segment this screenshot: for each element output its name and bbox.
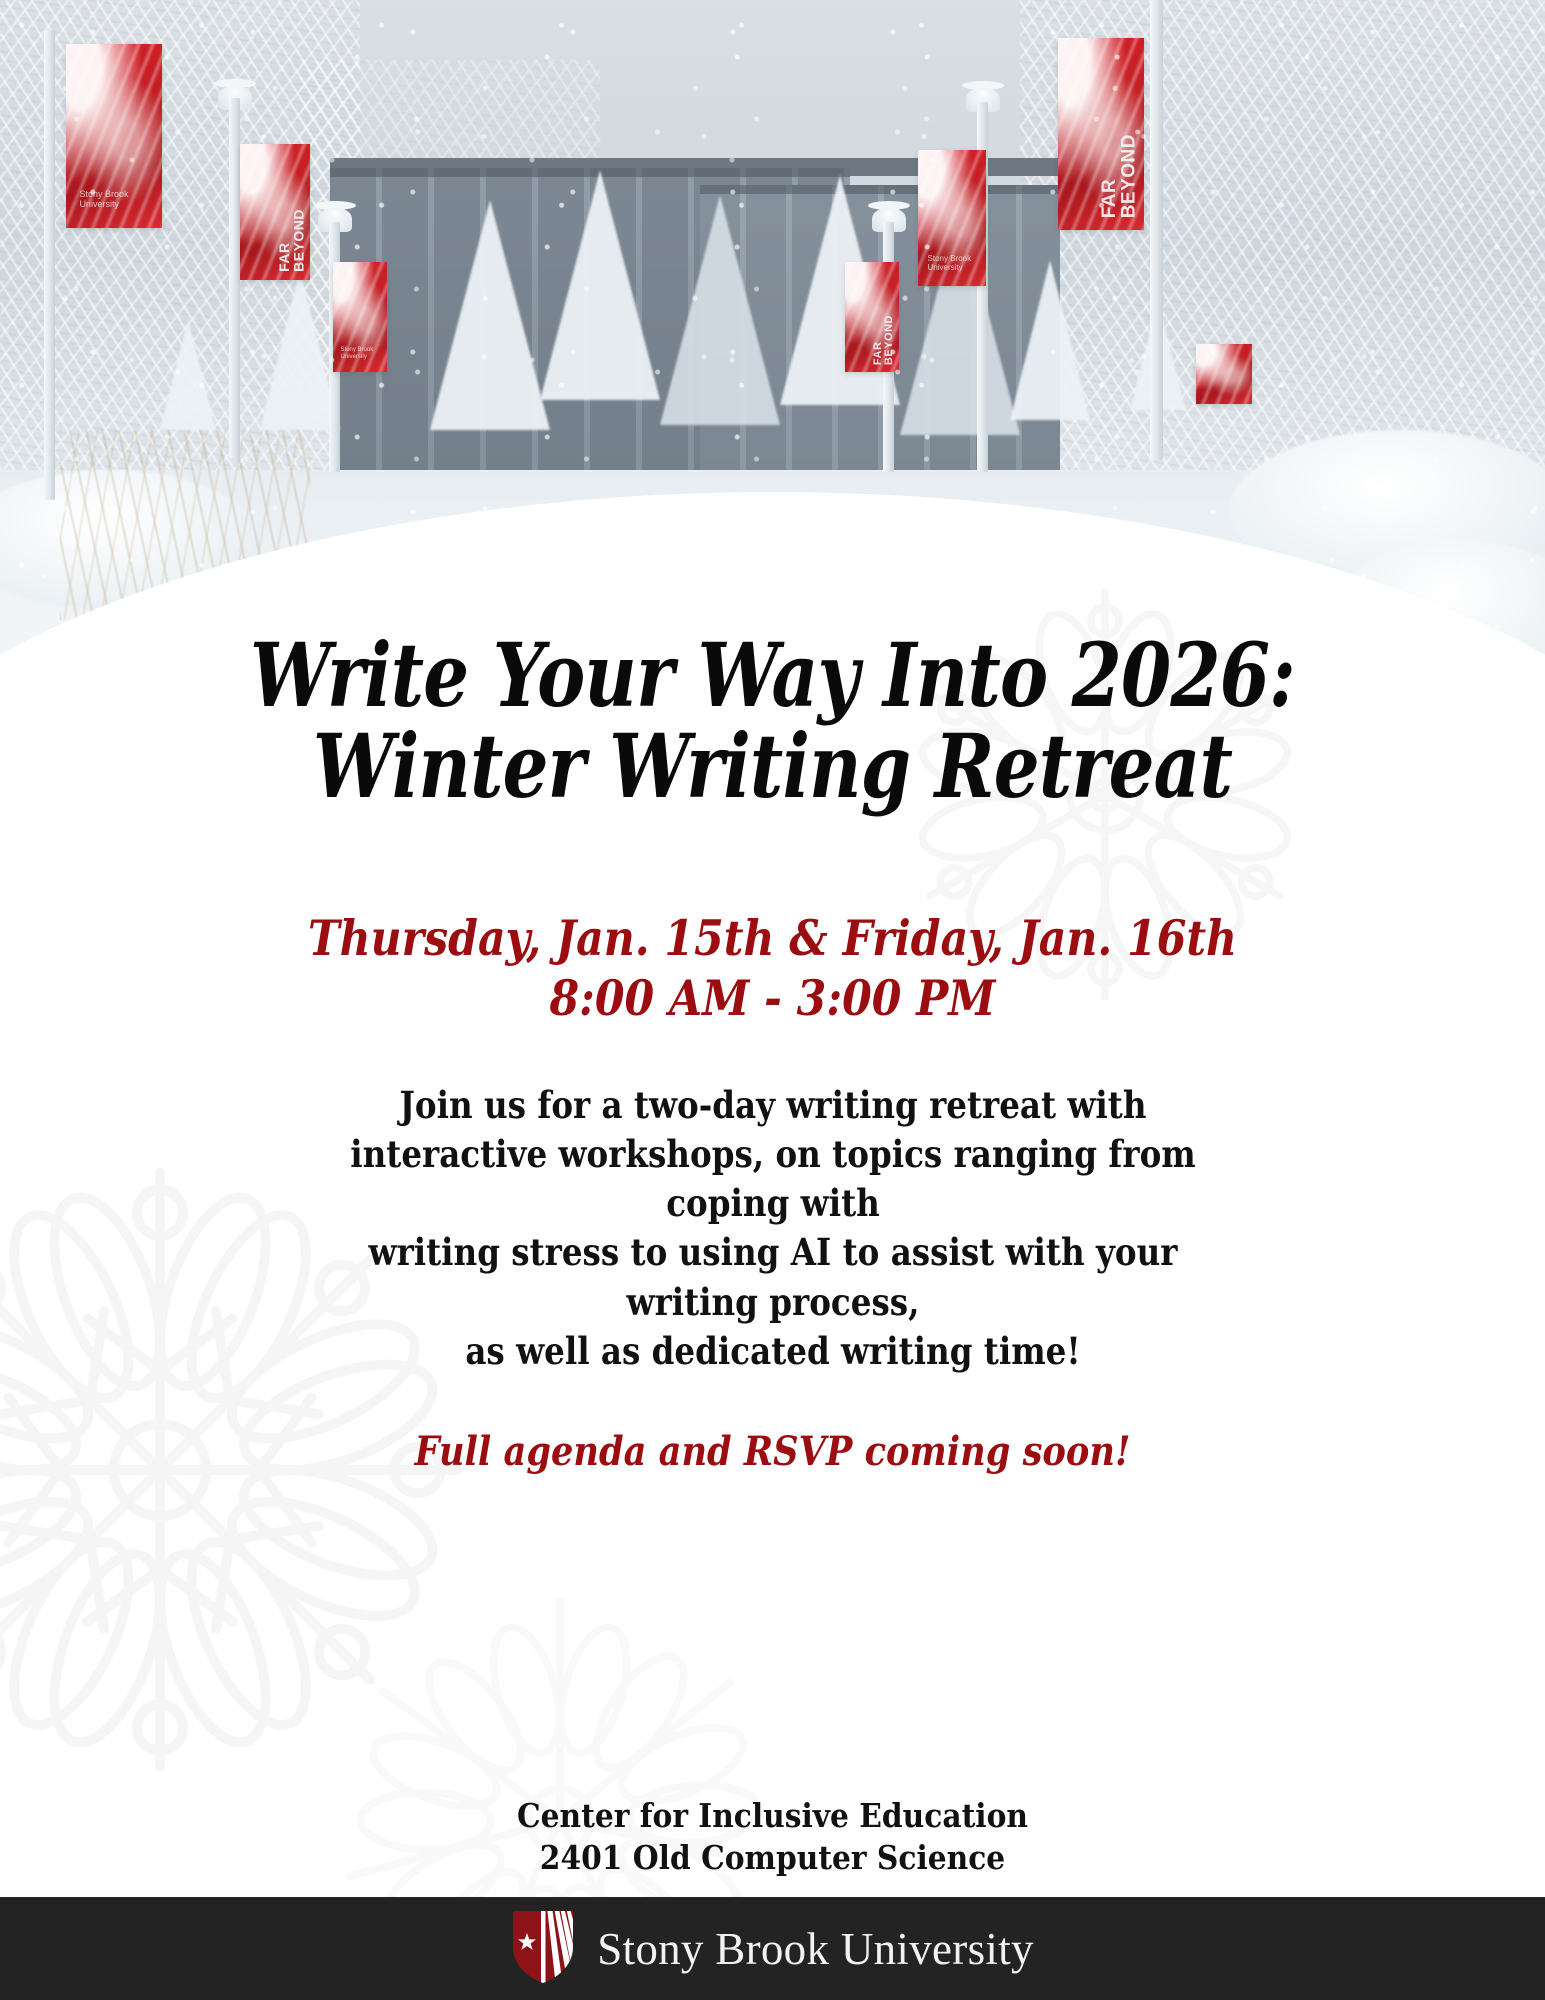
page-title: Write Your Way Into 2026: Winter Writing… [139, 630, 1406, 811]
lamp-post [44, 30, 55, 500]
conifer-tree [260, 270, 340, 430]
conifer-tree [430, 200, 550, 430]
event-time: 8:00 AM - 3:00 PM [100, 969, 1444, 1029]
far-beyond-text: FAR BEYOND [1100, 134, 1139, 218]
event-dates: Thursday, Jan. 15th & Friday, Jan. 16th … [100, 909, 1444, 1029]
sbu-banner: FAR BEYOND [1058, 38, 1144, 230]
venue-organization: Center for Inclusive Education [77, 1795, 1468, 1837]
far-beyond-text: FAR BEYOND [873, 315, 895, 365]
poster: Stony Brook University FAR BEYOND Stony … [0, 0, 1545, 2000]
sbu-banner-mark: Stony Brook University [928, 254, 972, 272]
conifer-tree [160, 320, 216, 430]
conifer-tree [540, 170, 660, 400]
poster-content: Write Your Way Into 2026: Winter Writing… [0, 630, 1545, 1475]
sbu-banner: FAR BEYOND [845, 262, 899, 372]
sbu-banner: Stony Brook University [333, 262, 387, 372]
description-line: writing stress to using AI to assist wit… [306, 1228, 1239, 1326]
sbu-banner [1196, 344, 1252, 404]
event-date-line: Thursday, Jan. 15th & Friday, Jan. 16th [308, 909, 1237, 967]
description-line: interactive workshops, on topics ranging… [306, 1130, 1239, 1228]
venue-address: 2401 Old Computer Science [77, 1837, 1468, 1879]
sbu-banner: Stony Brook University [918, 150, 986, 286]
title-line-2: Winter Writing Retreat [172, 721, 1373, 812]
lamp-post [229, 98, 240, 458]
lamp-post [1150, 0, 1163, 460]
description-line: Join us for a two-day writing retreat wi… [306, 1081, 1239, 1130]
conifer-tree [660, 195, 780, 425]
conifer-tree [1010, 260, 1090, 420]
sbu-banner: FAR BEYOND [240, 144, 310, 280]
rsvp-note: Full agenda and RSVP coming soon! [93, 1428, 1453, 1475]
description-line: as well as dedicated writing time! [306, 1327, 1239, 1376]
sbu-banner-mark: Stony Brook University [79, 189, 128, 210]
sbu-wordmark: Stony Brook University [597, 1923, 1034, 1975]
sbu-shield-icon [511, 1907, 575, 1990]
sbu-banner: Stony Brook University [66, 44, 162, 228]
title-line-1: Write Your Way Into 2026: [250, 623, 1295, 727]
venue-block: Center for Inclusive Education 2401 Old … [77, 1795, 1468, 1879]
footer-bar: Stony Brook University [0, 1897, 1545, 2000]
far-beyond-text: FAR BEYOND [277, 209, 306, 272]
event-description: Join us for a two-day writing retreat wi… [306, 1081, 1239, 1376]
sbu-banner-mark: Stony Brook University [341, 347, 374, 361]
